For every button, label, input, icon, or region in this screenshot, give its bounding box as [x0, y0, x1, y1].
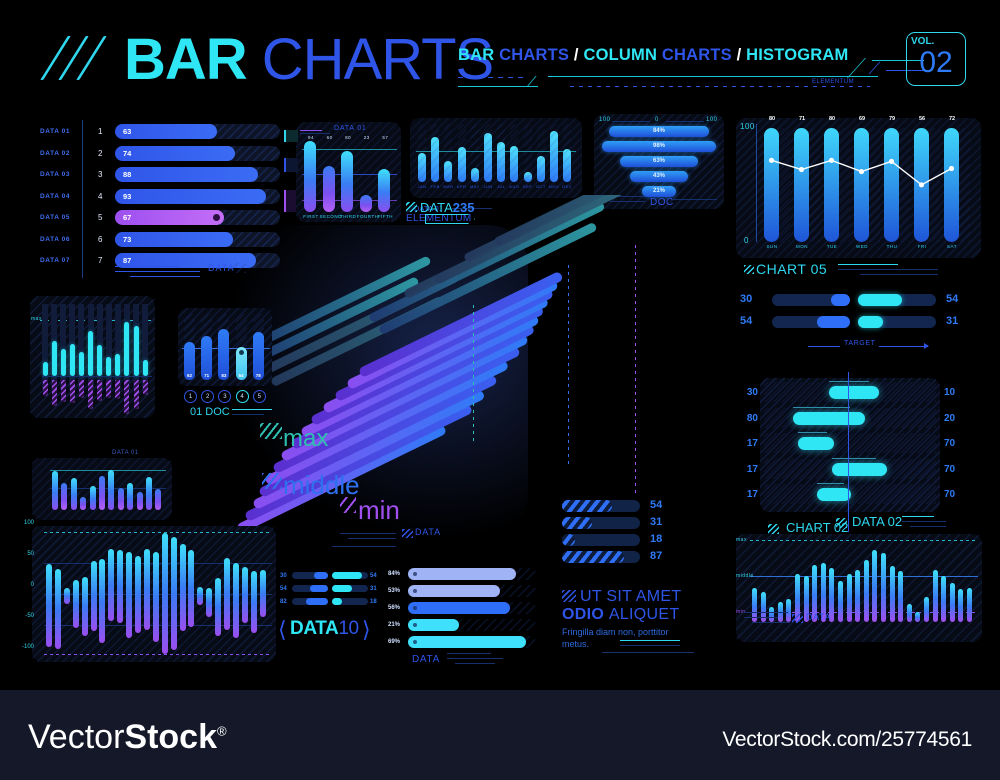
brand-registered-icon: ® [217, 724, 227, 739]
smallcol-bar[interactable] [99, 476, 105, 510]
col12-category: MAY [469, 184, 481, 189]
chart02-rule-1 [744, 612, 788, 613]
smallcol-bar[interactable] [61, 483, 67, 510]
doc-bar[interactable]: 63% [620, 156, 698, 167]
hatch-bar-value: 31 [650, 516, 662, 528]
chart02-label-max: max [736, 537, 747, 543]
data02-left-label: 17 [747, 438, 758, 449]
histo-negative-bar[interactable] [143, 380, 148, 395]
perspective-label-max: max [283, 425, 328, 453]
hbar-track[interactable]: 88 [115, 167, 280, 182]
hatch-bar-value: 54 [650, 499, 662, 511]
data02-title: DATA 02 [852, 514, 902, 529]
percent-bar-dot [413, 572, 417, 576]
wave-y-labels: 100500-50-100 [8, 520, 34, 670]
widget-histogram-mid: max [30, 296, 155, 418]
wave-bar[interactable] [82, 577, 88, 636]
target-fill-left [817, 316, 850, 328]
smallcol-bar[interactable] [71, 478, 77, 510]
title-rule-a [300, 133, 330, 134]
wave-bar[interactable] [171, 537, 177, 650]
hatch-bar-track[interactable] [562, 551, 640, 563]
data10-bracket-right-icon: ⟩ [362, 617, 371, 643]
doc-bar[interactable]: 43% [630, 171, 687, 182]
chart02-bar[interactable] [786, 599, 791, 622]
volume-number: 02 [906, 46, 966, 80]
hatch-bar-track[interactable] [562, 500, 640, 512]
data02-bar[interactable] [817, 488, 851, 501]
histo-negative-bar[interactable] [106, 380, 111, 398]
wave-y-label: -50 [25, 613, 34, 619]
data02-left-label: 30 [747, 387, 758, 398]
histo-positive-bar[interactable] [70, 344, 75, 376]
perspective-min-hatch-icon [340, 497, 356, 513]
data02-left-label: 80 [747, 413, 758, 424]
data10-bracket-left-icon: ⟨ [278, 617, 287, 643]
percent-bar-dot [413, 589, 417, 593]
doc-bar-value: 63% [620, 156, 698, 167]
perspective-middle-hatch-icon [262, 473, 282, 489]
smallcol-bar[interactable] [146, 477, 152, 510]
target-track-left[interactable] [772, 316, 850, 328]
chart02-bar[interactable] [941, 576, 946, 622]
subtitle-histogram: HISTOGRAM [746, 46, 848, 64]
hbar-row-index: 5 [98, 213, 102, 222]
chart02-bar[interactable] [907, 604, 912, 622]
data10-title: DATA10 [290, 618, 359, 640]
hbar-row-index: 6 [98, 235, 102, 244]
doc5-number-badge[interactable]: 5 [253, 390, 266, 403]
smallcol-bar[interactable] [127, 483, 133, 510]
data10-word: DATA [290, 618, 338, 639]
chart02-bar[interactable] [967, 588, 972, 622]
col12-bar-bg [524, 124, 532, 182]
header-rule-dashed [458, 77, 528, 78]
wave-bar[interactable] [55, 569, 61, 650]
histo-positive-bar[interactable] [115, 354, 120, 376]
col12-bar-bg [497, 124, 505, 182]
col12-bar-bg [418, 124, 426, 182]
wave-bar[interactable] [135, 556, 141, 633]
wave-bar[interactable] [188, 550, 194, 627]
histo-positive-bar[interactable] [143, 360, 148, 376]
hbar-value: 67 [123, 213, 131, 222]
wave-y-label: 100 [24, 520, 34, 526]
brand-stock: Stock [124, 718, 217, 756]
doc5-bar-value: 78 [253, 373, 264, 378]
data10-track-left[interactable] [292, 585, 328, 592]
data10-left-value: 54 [280, 586, 287, 592]
histo-bar-bg [142, 304, 148, 390]
wave-bar[interactable] [197, 587, 203, 605]
hbar-row-index: 4 [98, 192, 102, 201]
widget-column-chart-12: JANFEBMARAPRMAYJUNJULAUGSEPOCTNOVDEC [410, 118, 582, 198]
chart05-rule-3 [860, 274, 938, 275]
data10-left-value: 82 [280, 599, 287, 605]
header-elementum-label: ELEMENTUM [812, 79, 854, 85]
col12-category: OCT [535, 184, 547, 189]
perspective-rule-3 [332, 546, 396, 547]
chart05-trend-line [760, 126, 975, 242]
doc5-title: 01 DOC [190, 406, 230, 418]
col12-bars [418, 124, 576, 182]
chart05-value: 71 [791, 116, 813, 122]
col12-bar-bg [458, 124, 466, 182]
wave-y-label: -100 [22, 644, 34, 650]
data02-right-label: 70 [944, 438, 955, 449]
data10-track-right[interactable] [332, 598, 368, 605]
histo-negative-bar[interactable] [52, 380, 57, 406]
chart05-title: CHART 05 [756, 261, 827, 277]
chart05-axis [756, 124, 757, 242]
data10-fill-left [314, 572, 328, 579]
widget-target: 30545431 TARGET [740, 292, 990, 358]
wave-bar[interactable] [117, 550, 123, 623]
perspective-footer-label: DATA [415, 527, 441, 537]
doc5-bar[interactable]: 78 [253, 332, 264, 380]
target-left-value: 54 [740, 315, 752, 327]
histo-negative-bar[interactable] [43, 380, 48, 396]
hatch-bar-value: 87 [650, 550, 662, 562]
header-rule-diagonal [526, 76, 553, 87]
widget-data10-bars: 305454318218 [280, 572, 376, 614]
doc5-bar-value: 83 [218, 373, 229, 378]
doc5-bar[interactable]: 71 [201, 336, 212, 380]
perspective-max-hatch-icon [260, 423, 282, 439]
data10-right-value: 18 [370, 599, 377, 605]
doc5-number-badges: 12345 [184, 390, 268, 406]
chart05-value: 56 [911, 116, 933, 122]
hbar-track[interactable]: 74 [115, 146, 280, 161]
col12-bar-bg [484, 124, 492, 182]
wave-bar[interactable] [242, 567, 248, 623]
doc5-number-badge[interactable]: 4 [236, 390, 249, 403]
wave-bar[interactable] [126, 552, 132, 639]
chart02-rule-2 [744, 617, 778, 618]
data02-rule-3 [910, 526, 946, 527]
widget-5col-doc: 6271835478 [178, 308, 272, 386]
percent-bar[interactable] [408, 602, 510, 614]
data02-row-bg [764, 433, 936, 453]
hatch-bar-fill [562, 500, 612, 512]
col12-bar-bg [537, 124, 545, 182]
smallcol-bar[interactable] [118, 488, 124, 510]
percent-label: 56% [388, 605, 400, 611]
percent-bar[interactable] [408, 568, 516, 580]
smallcol-bar[interactable] [108, 470, 114, 510]
col12-category: JAN [416, 184, 428, 189]
hatch-bar-track[interactable] [562, 517, 640, 529]
col5-value: 57 [375, 135, 395, 140]
wave-bar[interactable] [153, 552, 159, 642]
chart05-value: 80 [761, 116, 783, 122]
data02-rule-2 [902, 521, 946, 522]
hbar-value: 93 [123, 192, 131, 201]
histo-negative-bar[interactable] [115, 380, 120, 399]
chart05-y-bottom: 0 [744, 236, 749, 245]
legend-chip-3 [284, 190, 296, 212]
target-track-right[interactable] [858, 294, 936, 306]
hbar-row-label: DATA 05 [40, 214, 70, 221]
smallcol-bar[interactable] [137, 492, 143, 510]
histo-negative-bar[interactable] [79, 380, 84, 398]
histo-positive-bar[interactable] [106, 357, 111, 376]
target-track-right[interactable] [858, 316, 936, 328]
hbar-row-label: DATA 03 [40, 171, 70, 178]
doc-bar-value: 43% [630, 171, 687, 182]
chart02-rule-3 [752, 622, 790, 623]
wave-bars [46, 532, 272, 654]
chart05-category: WED [851, 244, 873, 249]
legend-chip-1 [284, 130, 298, 142]
wave-bar[interactable] [251, 571, 257, 633]
hbar-row-label: DATA 07 [40, 257, 70, 264]
histo-negative-bars [42, 380, 152, 420]
histo-negative-bar[interactable] [61, 380, 66, 402]
wave-bar[interactable] [64, 588, 70, 604]
percent-bar-dot [413, 640, 417, 644]
data10-fill-right [332, 572, 362, 579]
data02-bar-tick [793, 407, 851, 408]
chart02-hatch-icon [768, 524, 779, 534]
data02-right-label: 70 [944, 489, 955, 500]
doc5-bar-value: 71 [201, 373, 212, 378]
histo-axis-label: max [31, 316, 42, 322]
histo-positive-bar[interactable] [97, 345, 102, 376]
percent-bars-footer: DATA [412, 654, 440, 665]
data10-fill-left [310, 585, 328, 592]
wave-bar[interactable] [46, 564, 52, 647]
percent-bar[interactable] [408, 585, 500, 597]
wave-bar[interactable] [224, 558, 230, 630]
chart05-hatch-icon [744, 265, 754, 274]
hbar-track[interactable]: 63 [115, 124, 280, 139]
doc5-bar[interactable]: 62 [184, 342, 195, 380]
doc-scale-right: 100 [706, 117, 718, 123]
doc-scale-mid: 0 [655, 117, 659, 123]
text-rule-1 [620, 640, 680, 641]
hatch-bar-track[interactable] [562, 534, 640, 546]
histo-positive-bars [42, 308, 152, 376]
widget-text-block: UT SIT AMET ODIO ALIQUET Fringilla diam … [562, 588, 712, 652]
col5-value: 23 [357, 135, 377, 140]
target-fill-right [858, 316, 883, 328]
data02-rule-1 [902, 516, 934, 517]
text-line-3: Fringilla diam non, porttitor metus. [562, 626, 692, 650]
perspective-guide-3 [635, 245, 636, 495]
data10-track-left[interactable] [292, 598, 328, 605]
data10-track-left[interactable] [292, 572, 328, 579]
target-fill-right [858, 294, 902, 306]
histo-positive-bar[interactable] [61, 349, 66, 376]
col5-value: 60 [320, 135, 340, 140]
doc5-bar[interactable]: 83 [218, 329, 229, 380]
widget-chart02-bottom: max middle min [736, 534, 982, 642]
histo-positive-bar[interactable] [88, 331, 93, 376]
doc-scale-left: 100 [599, 117, 611, 123]
histo-positive-bar[interactable] [43, 362, 48, 376]
hbar-value: 63 [123, 127, 131, 136]
data10-track-right[interactable] [332, 572, 368, 579]
infographic-canvas: BAR CHARTS BAR CHARTS / COLUMN CHARTS / … [0, 0, 1000, 690]
wave-bar[interactable] [144, 549, 150, 630]
doc5-number-badge[interactable]: 2 [201, 390, 214, 403]
wave-bar[interactable] [233, 563, 239, 639]
col12-bar-bg [510, 124, 518, 182]
legend-chip-2 [284, 158, 298, 172]
smallcol-title: DATA 01 [112, 450, 139, 456]
subtitle-column: COLUMN [583, 46, 661, 64]
percent-label: 69% [388, 639, 400, 645]
col12-bar-bg [431, 124, 439, 182]
text-rule-2 [620, 645, 680, 646]
chart02-bar[interactable] [769, 607, 774, 622]
hatch-bar-fill [562, 517, 592, 529]
histo-negative-bar[interactable] [97, 380, 102, 401]
data02-bar[interactable] [798, 437, 834, 450]
histo-negative-bar[interactable] [88, 380, 93, 409]
data02-bar[interactable] [829, 386, 879, 399]
percent-bar-dot [413, 623, 417, 627]
chart02-bar[interactable] [950, 583, 955, 622]
histo-positive-bar[interactable] [79, 352, 84, 376]
widget-chart05: 100 0 SUNMONTUEWEDTHUFRISAT 807180697956… [736, 118, 981, 258]
brand-url: VectorStock.com/25774561 [722, 728, 972, 752]
smallcol-bar[interactable] [80, 497, 86, 510]
wave-bar[interactable] [91, 561, 97, 631]
smallcol-bar[interactable] [52, 471, 58, 510]
text-rule-3 [602, 652, 694, 653]
col12-category: NOV [548, 184, 560, 189]
chart02-bar[interactable] [847, 574, 852, 622]
data10-fill-left [306, 598, 328, 605]
col12-category: JUL [495, 184, 507, 189]
wave-grid-neg100 [44, 654, 272, 655]
widget-hatch-bars: 54311887 [562, 500, 672, 570]
col12-bar-bg [550, 124, 558, 182]
histo-positive-bar[interactable] [124, 322, 129, 376]
hatch-bar-fill [562, 551, 624, 563]
wave-bar[interactable] [99, 559, 105, 643]
wave-bar[interactable] [260, 570, 266, 618]
chart05-value: 80 [821, 116, 843, 122]
wave-bar[interactable] [180, 544, 186, 631]
chart05-category: THU [881, 244, 903, 249]
doc5-bar-knob[interactable] [239, 350, 244, 355]
chart02-bar[interactable] [838, 581, 843, 622]
hbar-knob[interactable] [213, 214, 220, 221]
subtitle-slash-1: / [569, 46, 583, 64]
data02-right-labels: 1020707070 [944, 378, 968, 512]
chart02-bar[interactable] [881, 553, 886, 622]
data02-bar-tick [817, 483, 845, 484]
col12-category: FEB [429, 184, 441, 189]
chart02-bar[interactable] [915, 612, 920, 622]
smallcol-bars [52, 466, 166, 510]
percent-footer-rule-1 [447, 653, 491, 654]
data10-right-value: 31 [370, 586, 377, 592]
hbar-row-label: DATA 01 [40, 128, 70, 135]
histo-bar-bg [106, 304, 112, 390]
wave-bar[interactable] [162, 533, 168, 654]
text-odio: ODIO [562, 606, 609, 623]
data10-fill-right [332, 598, 342, 605]
col12-category: DEC [561, 184, 573, 189]
brand-vector: Vector [28, 718, 124, 756]
chart02-bar[interactable] [872, 550, 877, 622]
hbar-value: 87 [123, 256, 131, 265]
doc-bar[interactable]: 84% [609, 126, 709, 137]
chart02-bar[interactable] [890, 566, 895, 622]
wave-bar[interactable] [73, 580, 79, 629]
histo-negative-bar[interactable] [70, 380, 75, 403]
chart02-bar[interactable] [864, 560, 869, 622]
doc5-bar[interactable]: 54 [236, 347, 247, 380]
histo-positive-bar[interactable] [52, 341, 57, 376]
hbar-value: 73 [123, 235, 131, 244]
histo-positive-bar[interactable] [134, 326, 139, 376]
chart02-bar[interactable] [933, 570, 938, 622]
col5-title: DATA 01 [334, 125, 367, 132]
chart02-bar[interactable] [958, 589, 963, 622]
col12-category: MAR [442, 184, 454, 189]
chart05-value: 79 [881, 116, 903, 122]
percent-bar[interactable] [408, 636, 526, 648]
data02-bar[interactable] [793, 412, 865, 425]
chart05-category: SUN [761, 244, 783, 249]
widget-wave-histogram [32, 526, 276, 662]
data02-bar[interactable] [832, 463, 887, 476]
hbar-fill: 74 [115, 146, 235, 161]
doc5-number-badge[interactable]: 3 [218, 390, 231, 403]
perspective-label-min: min [358, 495, 400, 526]
chart02-label-middle: middle [736, 573, 754, 579]
header-rule-solid [548, 76, 878, 77]
histo-zero-line [42, 376, 152, 377]
hbar-row-label: DATA 02 [40, 150, 70, 157]
chart02-bar[interactable] [898, 571, 903, 622]
col12-category: SEP [522, 184, 534, 189]
smallcol-bar[interactable] [90, 486, 96, 510]
data02-left-label: 17 [747, 489, 758, 500]
page-title-bar: BAR [124, 27, 247, 92]
widget-data02 [760, 378, 940, 512]
col12-bar-bg [471, 124, 479, 182]
chart05-rule-1 [838, 264, 898, 265]
doc-bar-value: 98% [602, 141, 717, 152]
percent-bar-dot [413, 606, 417, 610]
wave-bar[interactable] [206, 588, 212, 617]
doc5-bars: 6271835478 [184, 314, 268, 380]
data10-track-right[interactable] [332, 585, 368, 592]
target-track-left[interactable] [772, 294, 850, 306]
chart02-bar[interactable] [924, 597, 929, 622]
data02-right-label: 20 [944, 413, 955, 424]
doc-bar[interactable]: 98% [602, 141, 717, 152]
hbar-row-index: 2 [98, 149, 102, 158]
chart02-bar[interactable] [855, 570, 860, 622]
wave-bar[interactable] [108, 549, 114, 621]
chart05-category: MON [791, 244, 813, 249]
smallcol-bar[interactable] [155, 489, 161, 510]
histo-negative-bar[interactable] [134, 380, 139, 409]
histo-negative-bar[interactable] [124, 380, 129, 414]
doc5-number-badge[interactable]: 1 [184, 390, 197, 403]
wave-bar[interactable] [215, 578, 221, 635]
hbar-fill: 67 [115, 210, 224, 225]
percent-bar[interactable] [408, 619, 459, 631]
chart05-category: FRI [911, 244, 933, 249]
